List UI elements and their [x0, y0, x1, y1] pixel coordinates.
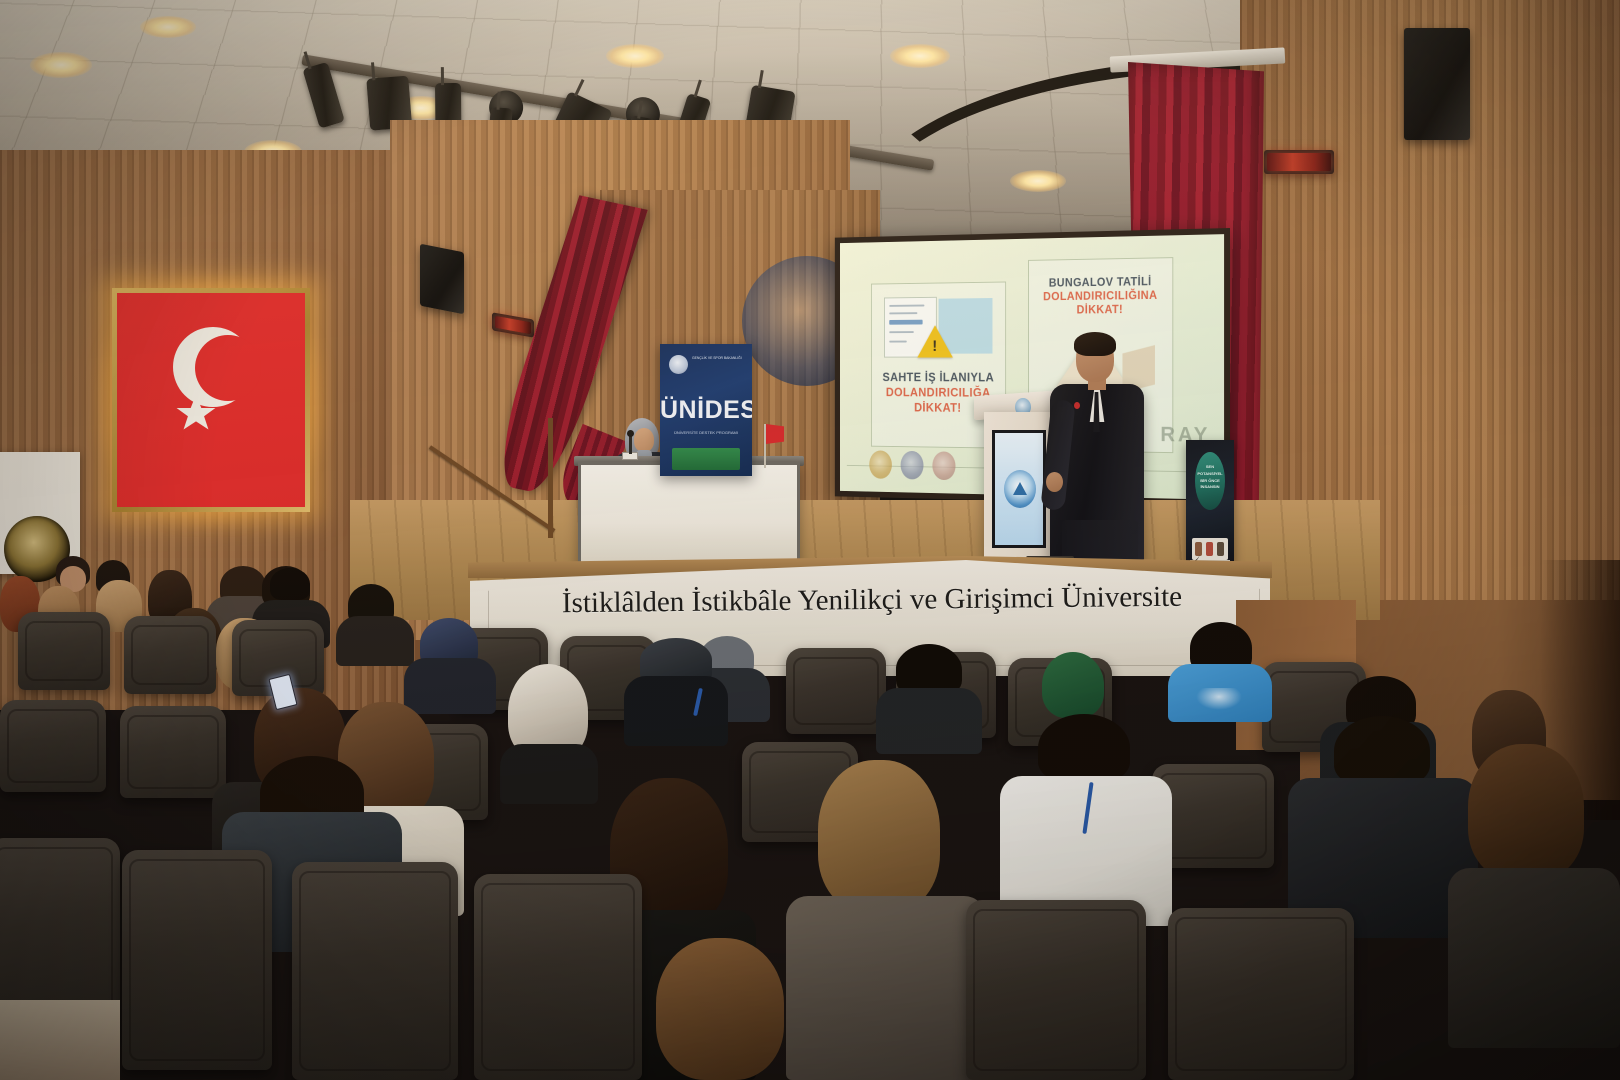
seat[interactable]: [0, 700, 106, 792]
hair: [1038, 714, 1130, 782]
head-table-panel: [578, 462, 800, 566]
stage-spotlight-icon: [302, 62, 345, 129]
seat[interactable]: [124, 616, 216, 694]
unides-subline: ÜNİVERSİTE DESTEK PROGRAMI: [668, 430, 744, 436]
unides-wordmark: ÜNİDES: [660, 396, 752, 425]
lectern-display-emblem-icon: [1004, 470, 1036, 508]
hair: [1468, 744, 1584, 880]
slide-right-title-3: DİKKAT!: [1031, 304, 1171, 318]
slide-mini-line: [889, 320, 922, 325]
desk-flag-pole: [764, 424, 766, 468]
unides-org-line: GENÇLİK VE SPOR BAKANLIĞI: [692, 356, 742, 361]
banner-line-1: SEN: [1197, 464, 1223, 471]
seat[interactable]: [966, 900, 1146, 1080]
unides-des: DES: [705, 396, 752, 424]
hair: [1334, 716, 1430, 786]
speaker-hair: [1074, 332, 1116, 356]
coat: [786, 896, 986, 1080]
banner-line-2: POTANSİYEL: [1197, 471, 1223, 478]
seat[interactable]: [122, 850, 272, 1070]
microphone-head-icon: [627, 430, 634, 437]
right-rollup-banner: SEN POTANSİYEL BİR ÖNCE İNSANSIN: [1186, 440, 1234, 564]
headscarf: [1042, 652, 1104, 718]
aisle-floor: [0, 1000, 120, 1080]
seat[interactable]: [120, 706, 226, 798]
torso: [336, 616, 414, 666]
speaker-hand: [1046, 472, 1063, 492]
downlight: [30, 52, 92, 78]
police-emblem-icon: [901, 451, 924, 480]
wall-speaker: [420, 244, 464, 315]
panelist-face: [634, 428, 654, 452]
torso: [404, 658, 496, 714]
banner-text: SEN POTANSİYEL BİR ÖNCE İNSANSIN: [1197, 464, 1223, 491]
banner-line-3: BİR ÖNCE: [1197, 478, 1223, 485]
slide-right-title-1: BUNGALOV TATİLİ: [1031, 276, 1171, 291]
ministry-emblem-icon: [869, 450, 892, 479]
slide-mini-line: [889, 331, 914, 333]
slide-mini-line: [889, 305, 924, 307]
slide-mini-line: [889, 312, 917, 314]
heater-glow: [1267, 153, 1331, 171]
coat: [1448, 868, 1620, 1048]
seat[interactable]: [18, 612, 110, 690]
seat[interactable]: [474, 874, 642, 1080]
microphone-stem: [629, 434, 632, 454]
hair: [656, 938, 784, 1080]
desk-turkish-flag: [766, 424, 784, 444]
lapel-pin-icon: [1074, 402, 1080, 409]
seat[interactable]: [786, 648, 886, 734]
slide-mini-line: [889, 341, 907, 343]
unides-rollup-banner: GENÇLİK VE SPOR BAKANLIĞI ÜNİDES ÜNİVERS…: [660, 344, 752, 476]
slide-left-title-1: SAHTE İŞ İLANIYLA: [874, 371, 1004, 385]
wall-speaker: [1404, 28, 1470, 140]
seat[interactable]: [1168, 908, 1354, 1080]
gendarmerie-emblem-icon: [932, 451, 955, 480]
torso: [500, 744, 598, 804]
turkish-flag-frame: [112, 288, 310, 512]
turkish-flag: [117, 293, 305, 507]
heater-glow: [495, 316, 531, 334]
banner-footer-logo: [1217, 542, 1224, 556]
seat[interactable]: [292, 862, 458, 1080]
downlight: [140, 16, 196, 38]
slide-footer-logos: [869, 450, 955, 480]
vest-print: [1196, 688, 1242, 710]
slide-right-title-2: DOLANDIRICILIĞINA: [1031, 290, 1171, 304]
torso: [876, 688, 982, 754]
ministry-logo-icon: [669, 355, 688, 374]
torso: [624, 676, 728, 746]
stage-stair-post: [548, 418, 553, 538]
infrared-heater: [1264, 150, 1334, 174]
warning-triangle-icon: [917, 325, 953, 357]
downlight: [890, 44, 950, 68]
auditorium-photo: SAHTE İŞ İLANIYLA DOLANDIRICILIĞA DİKKAT…: [0, 0, 1620, 1080]
banner-footer-logo: [1206, 542, 1213, 556]
unides-footer-graphic: [672, 448, 740, 470]
hair: [270, 568, 310, 600]
hair: [818, 760, 940, 912]
unides-uni: ÜNİ: [660, 396, 705, 424]
banner-line-4: İNSANSIN: [1197, 484, 1223, 491]
